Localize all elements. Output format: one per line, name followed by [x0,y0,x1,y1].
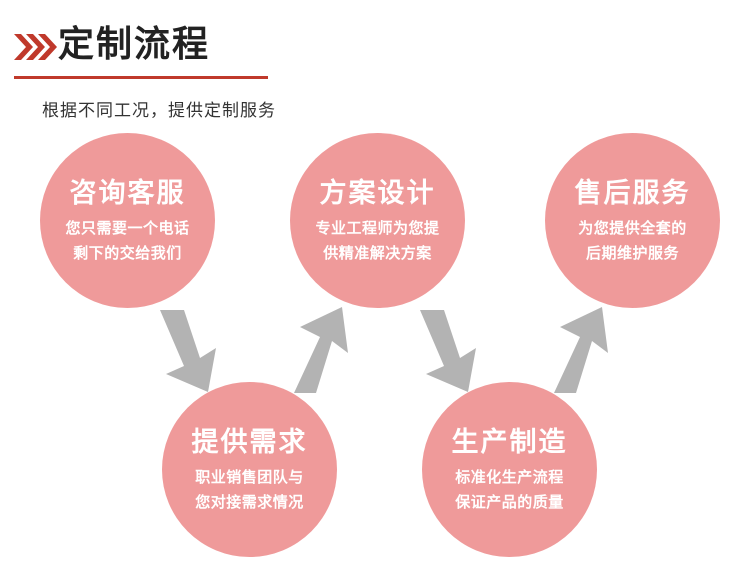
flow-node-desc: 您只需要一个电话 剩下的交给我们 [65,216,189,266]
arrow-down-right-icon [150,310,230,400]
flow-node-title: 提供需求 [192,425,308,459]
flow-node-desc-line: 后期维护服务 [578,241,687,266]
flow-node-title: 售后服务 [575,176,691,210]
flow-node-design: 方案设计 专业工程师为您提 供精准解决方案 [290,133,465,308]
flow-node-desc: 标准化生产流程 保证产品的质量 [455,465,564,515]
page-title: 定制流程 [58,22,210,66]
flow-node-desc-line: 专业工程师为您提 [315,216,439,241]
flow-node-consult: 咨询客服 您只需要一个电话 剩下的交给我们 [40,133,215,308]
page-header: 定制流程 [0,0,750,90]
flow-node-desc-line: 职业销售团队与 [195,465,304,490]
flow-node-desc-line: 您只需要一个电话 [65,216,189,241]
flow-node-title: 方案设计 [320,176,436,210]
flow-node-requirements: 提供需求 职业销售团队与 您对接需求情况 [162,382,337,557]
flow-node-desc-line: 供精准解决方案 [315,241,439,266]
flow-node-after-sales: 售后服务 为您提供全套的 后期维护服务 [545,133,720,308]
flow-node-desc-line: 剩下的交给我们 [65,241,189,266]
title-underline [14,76,268,79]
flow-node-desc-line: 您对接需求情况 [195,490,304,515]
flow-node-title: 生产制造 [452,425,568,459]
flow-node-desc-line: 保证产品的质量 [455,490,564,515]
flow-node-desc-line: 标准化生产流程 [455,465,564,490]
page-subtitle: 根据不同工况，提供定制服务 [42,96,276,121]
arrow-up-right-icon [280,305,360,400]
double-chevron-right-icon [14,32,58,62]
arrow-down-right-icon [410,310,490,400]
flow-node-title: 咨询客服 [70,176,186,210]
flow-node-manufacturing: 生产制造 标准化生产流程 保证产品的质量 [422,382,597,557]
flow-node-desc: 为您提供全套的 后期维护服务 [578,216,687,266]
flow-node-desc-line: 为您提供全套的 [578,216,687,241]
flow-node-desc: 职业销售团队与 您对接需求情况 [195,465,304,515]
arrow-up-right-icon [540,305,620,400]
flow-node-desc: 专业工程师为您提 供精准解决方案 [315,216,439,266]
